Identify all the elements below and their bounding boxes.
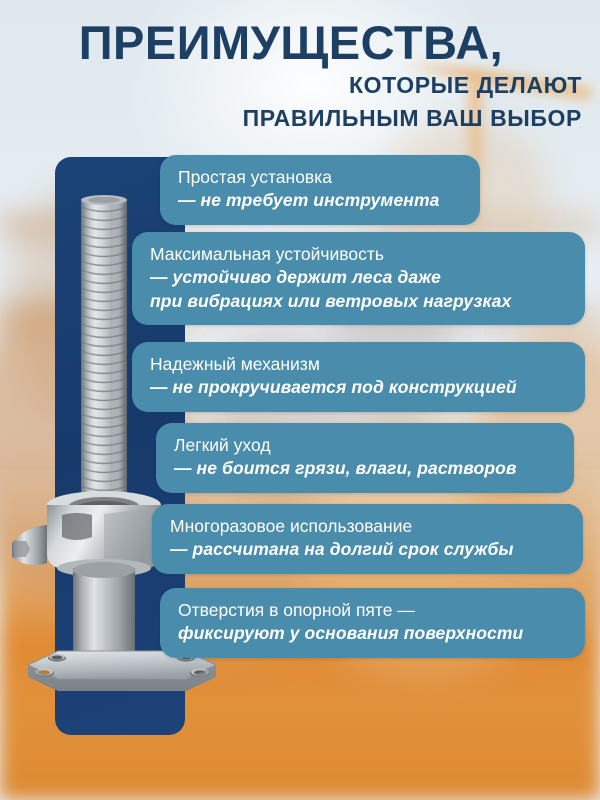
feature-bubble-maximum-stability[interactable]: Максимальная устойчивость — устойчиво де… bbox=[132, 232, 585, 325]
feature-title: Простая установка bbox=[178, 166, 464, 189]
feature-detail: — не боится грязи, влаги, растворов bbox=[174, 457, 558, 480]
promo-poster: ПРЕИМУЩЕСТВА, КОТОРЫЕ ДЕЛАЮТ ПРАВИЛЬНЫМ … bbox=[0, 0, 600, 800]
feature-title: Легкий уход bbox=[174, 434, 558, 457]
feature-detail: — устойчиво держит леса даже bbox=[150, 266, 569, 289]
feature-bubble-easy-installation[interactable]: Простая установка — не требует инструмен… bbox=[160, 155, 480, 225]
feature-bubble-reusable[interactable]: Многоразовое использование — рассчитана … bbox=[152, 504, 583, 574]
feature-detail-cont: при вибрациях или ветровых нагрузках bbox=[150, 290, 569, 313]
page-subtitle-line-1: КОТОРЫЕ ДЕЛАЮТ bbox=[0, 72, 582, 99]
feature-detail: фиксируют у основания поверхности bbox=[178, 622, 569, 645]
feature-title: Максимальная устойчивость bbox=[150, 243, 569, 266]
page-subtitle-line-2: ПРАВИЛЬНЫМ ВАШ ВЫБОР bbox=[0, 105, 582, 132]
page-title: ПРЕИМУЩЕСТВА, bbox=[0, 20, 582, 66]
support-tube bbox=[65, 562, 143, 665]
feature-bubble-easy-care[interactable]: Легкий уход — не боится грязи, влаги, ра… bbox=[156, 423, 574, 493]
feature-title: Отверстия в опорной пяте — bbox=[178, 599, 569, 622]
feature-detail: — рассчитана на долгий срок службы bbox=[170, 538, 567, 561]
feature-detail: — не требует инструмента bbox=[178, 189, 464, 212]
feature-title: Надежный механизм bbox=[150, 353, 569, 376]
feature-detail: — не прокручивается под конструкцией bbox=[150, 376, 569, 399]
feature-bubble-base-plate-holes[interactable]: Отверстия в опорной пяте — фиксируют у о… bbox=[160, 588, 585, 658]
threaded-rod bbox=[81, 195, 127, 514]
feature-title: Многоразовое использование bbox=[170, 515, 567, 538]
feature-bubble-reliable-mechanism[interactable]: Надежный механизм — не прокручивается по… bbox=[132, 342, 585, 412]
poster-heading: ПРЕИМУЩЕСТВА, КОТОРЫЕ ДЕЛАЮТ ПРАВИЛЬНЫМ … bbox=[0, 20, 582, 132]
